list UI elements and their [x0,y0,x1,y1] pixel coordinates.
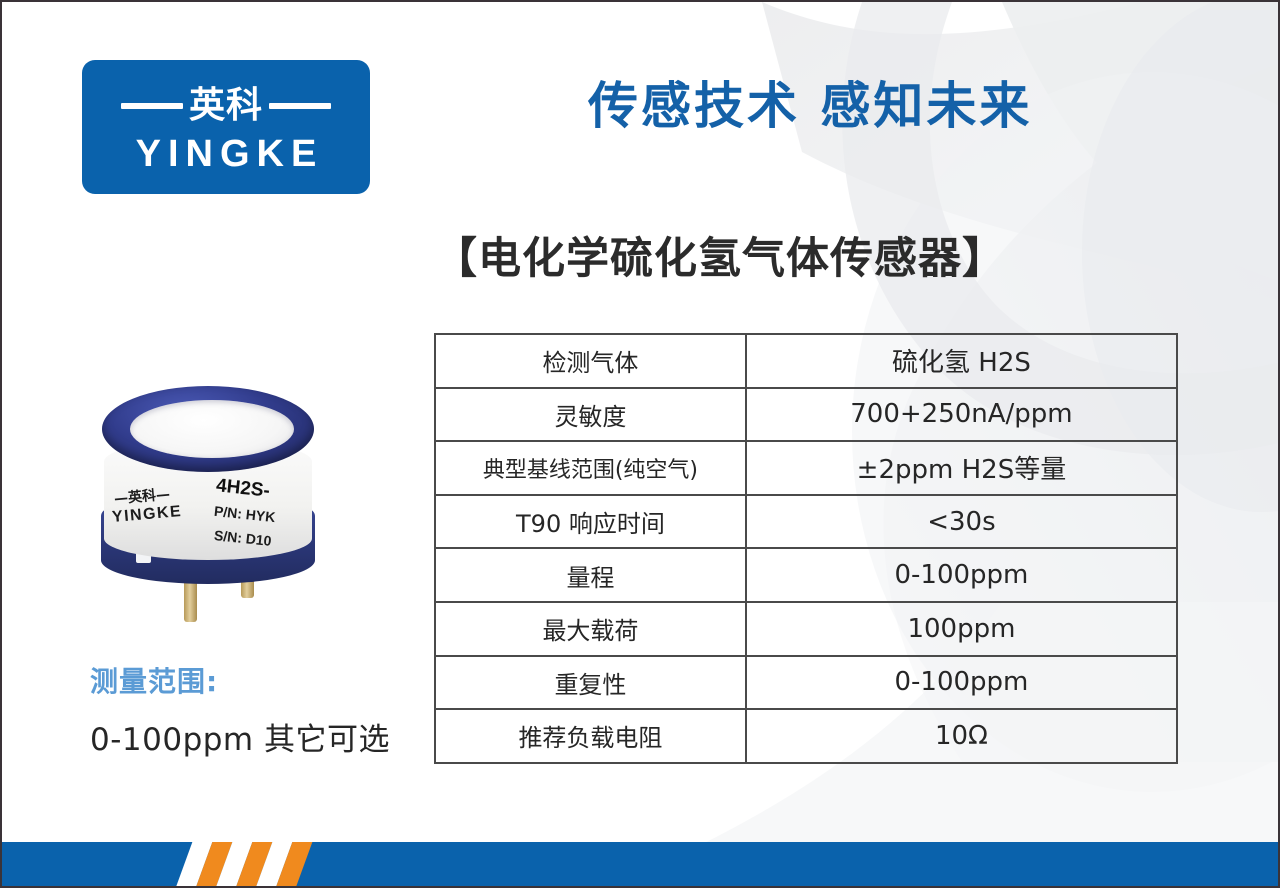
spec-value-cell: 100ppm [746,602,1177,656]
sensor-membrane [130,400,294,458]
measurement-range-label: 测量范围: [90,660,218,700]
spec-value-cell: 0-100ppm [746,656,1177,710]
table-row: 典型基线范围(纯空气)±2ppm H2S等量 [435,441,1177,495]
header-slogan: 传感技术 感知未来 [588,66,1032,138]
spec-key-cell: 量程 [435,548,746,602]
table-row: 灵敏度700+250nA/ppm [435,388,1177,442]
spec-table: 检测气体硫化氢 H2S灵敏度700+250nA/ppm典型基线范围(纯空气)±2… [434,333,1178,764]
table-row: 最大载荷100ppm [435,602,1177,656]
spec-value-cell: <30s [746,495,1177,549]
footer-bar [2,842,1280,886]
table-row: T90 响应时间<30s [435,495,1177,549]
spec-key-cell: 最大载荷 [435,602,746,656]
product-spec-page: 英科 YINGKE 传感技术 感知未来 【电化学硫化氢气体传感器】 —英科— Y… [0,0,1280,888]
logo-dash-right-icon [269,103,331,109]
spec-key-cell: T90 响应时间 [435,495,746,549]
spec-value-cell: 0-100ppm [746,548,1177,602]
measurement-range-value: 0-100ppm 其它可选 [90,714,390,759]
spec-key-cell: 检测气体 [435,334,746,388]
table-row: 量程0-100ppm [435,548,1177,602]
page-title: 【电化学硫化氢气体传感器】 [434,224,1006,286]
spec-key-cell: 灵敏度 [435,388,746,442]
table-row: 检测气体硫化氢 H2S [435,334,1177,388]
spec-value-cell: 700+250nA/ppm [746,388,1177,442]
sensor-label-serial-number: S/N: D10 [213,527,272,549]
sensor-top-ring [102,386,314,472]
brand-logo: 英科 YINGKE [82,60,370,194]
logo-cn-row: 英科 [121,83,331,129]
sensor-product-image: —英科— YINGKE 4H2S- P/N: HYK S/N: D10 [98,380,318,620]
spec-key-cell: 典型基线范围(纯空气) [435,441,746,495]
logo-dash-left-icon [121,103,183,109]
sensor-label-part-number: P/N: HYK [213,503,276,525]
spec-value-cell: ±2ppm H2S等量 [746,441,1177,495]
spec-value-cell: 10Ω [746,709,1177,763]
spec-key-cell: 推荐负载电阻 [435,709,746,763]
table-row: 重复性0-100ppm [435,656,1177,710]
table-row: 推荐负载电阻10Ω [435,709,1177,763]
logo-en-text: YINGKE [129,135,324,173]
sensor-label-model: 4H2S- [215,475,271,503]
logo-cn-text: 英科 [189,88,263,124]
spec-value-cell: 硫化氢 H2S [746,334,1177,388]
spec-key-cell: 重复性 [435,656,746,710]
